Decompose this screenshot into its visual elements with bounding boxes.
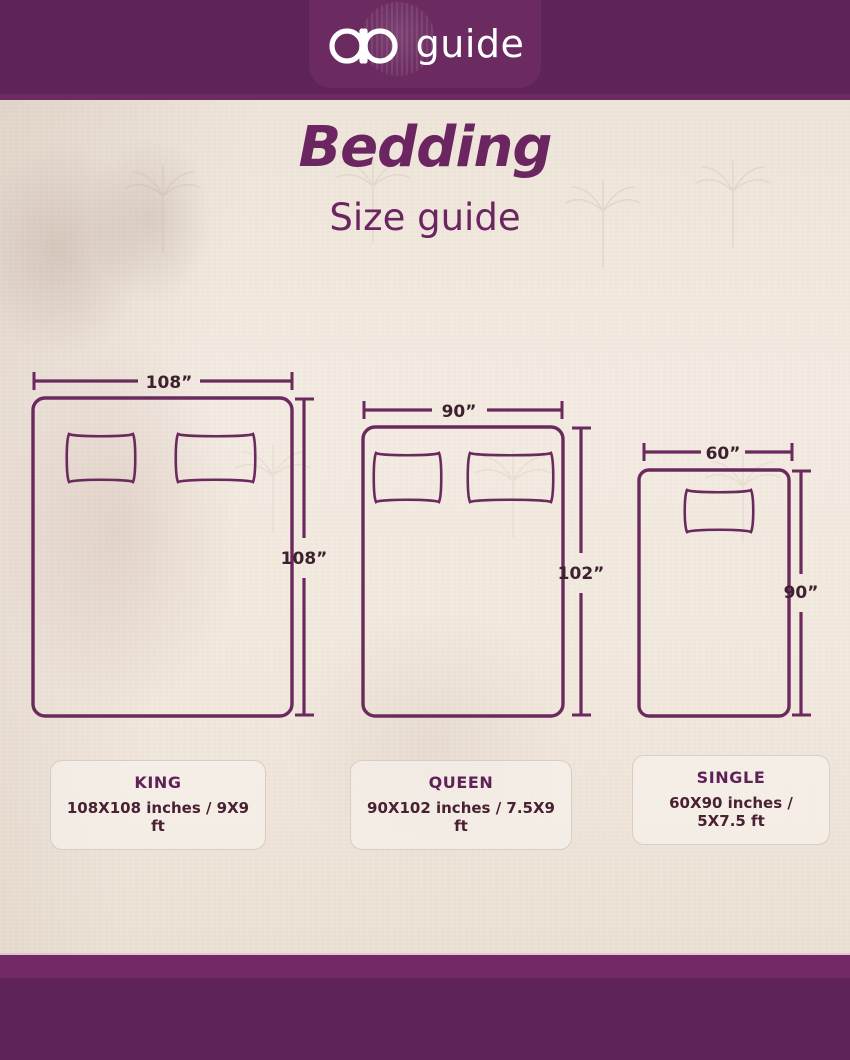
bed-king-group (33, 372, 314, 716)
queen-width-label: 90” (442, 402, 477, 422)
size-card-title: QUEEN (361, 773, 561, 792)
infographic-page: Bedding Size guide (0, 0, 850, 1060)
bottom-hairline (0, 953, 850, 955)
king-width-label: 108” (146, 373, 193, 393)
bed-diagram-svg: 108” 108” 90” 102” 60” 90” (0, 0, 850, 1060)
size-card-king[interactable]: KING 108X108 inches / 9X9 ft (50, 760, 266, 850)
bed-size-diagram: 108” 108” 90” 102” 60” 90” (0, 0, 850, 1060)
size-card-detail: 90X102 inches / 7.5X9 ft (361, 799, 561, 835)
brand-logo-word: guide (416, 25, 525, 63)
bed-single-group (639, 443, 811, 716)
brand-logo-tab[interactable]: guide (309, 0, 541, 88)
queen-height-label: 102” (558, 564, 605, 584)
size-card-detail: 60X90 inches / 5X7.5 ft (643, 794, 819, 830)
size-card-title: KING (61, 773, 255, 792)
size-card-single[interactable]: SINGLE 60X90 inches / 5X7.5 ft (632, 755, 830, 845)
single-height-label: 90” (784, 583, 819, 603)
bottom-purple-bar (0, 955, 850, 1060)
bed-queen-group (363, 401, 591, 716)
size-card-queen[interactable]: QUEEN 90X102 inches / 7.5X9 ft (350, 760, 572, 850)
ab-circles-logo-icon (326, 23, 404, 65)
single-width-label: 60” (706, 444, 741, 464)
size-card-detail: 108X108 inches / 9X9 ft (61, 799, 255, 835)
king-height-label: 108” (281, 549, 328, 569)
size-card-title: SINGLE (643, 768, 819, 787)
